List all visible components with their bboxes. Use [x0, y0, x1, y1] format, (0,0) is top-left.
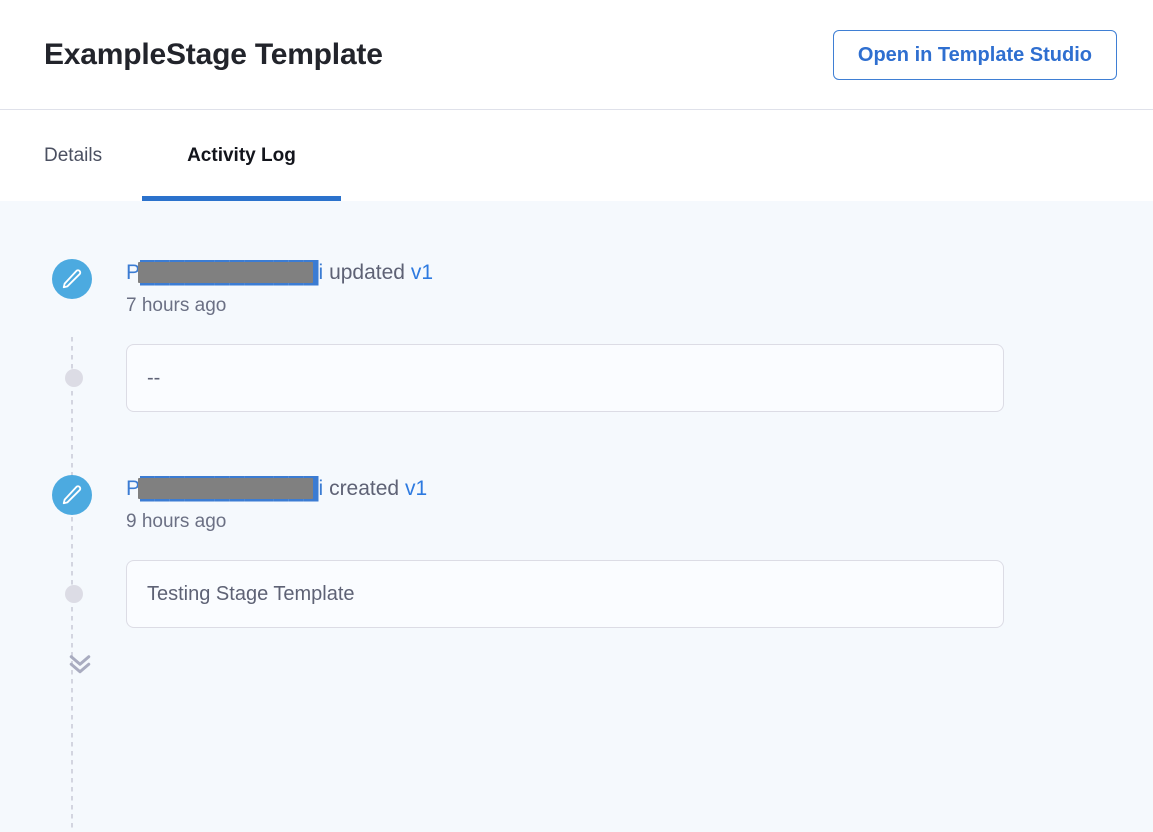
activity-timestamp: 7 hours ago: [126, 293, 433, 319]
activity-note-card: --: [126, 344, 1004, 412]
activity-entry-header: P████████████i created v1 9 hours ago: [52, 475, 1153, 535]
activity-note-text: Testing Stage Template: [147, 581, 355, 607]
redaction-overlay: [138, 262, 313, 283]
tab-bar: Details Activity Log: [0, 110, 1153, 201]
actor-name-link[interactable]: P████████████i: [126, 259, 323, 287]
activity-note-row: Testing Stage Template: [52, 560, 1153, 628]
pencil-icon: [52, 259, 92, 299]
activity-verb-text: updated: [329, 261, 405, 284]
entry-spacer: [52, 412, 1153, 475]
tab-activity-log[interactable]: Activity Log: [142, 110, 341, 201]
redaction-overlay: [138, 478, 313, 499]
activity-entry-text: P████████████i created v1 9 hours ago: [126, 475, 427, 535]
activity-timestamp: 9 hours ago: [126, 509, 427, 535]
activity-log-page: ExampleStage Template Open in Template S…: [0, 0, 1153, 832]
pencil-icon: [52, 475, 92, 515]
activity-note-text: --: [147, 365, 160, 391]
activity-entry-line: P████████████i created v1: [126, 475, 427, 503]
open-in-template-studio-button[interactable]: Open in Template Studio: [833, 30, 1117, 80]
activity-entry-header: P████████████i updated v1 7 hours ago: [52, 259, 1153, 319]
activity-note-card: Testing Stage Template: [126, 560, 1004, 628]
page-header: ExampleStage Template Open in Template S…: [0, 0, 1153, 110]
activity-entry: P████████████i created v1 9 hours ago Te…: [52, 475, 1153, 628]
activity-entry-text: P████████████i updated v1 7 hours ago: [126, 259, 433, 319]
timeline-dot: [65, 369, 83, 387]
page-title: ExampleStage Template: [44, 38, 383, 71]
activity-log-content: P████████████i updated v1 7 hours ago --: [0, 201, 1153, 832]
actor-name-link[interactable]: P████████████i: [126, 475, 323, 503]
activity-entry: P████████████i updated v1 7 hours ago --: [52, 259, 1153, 412]
activity-verb-text: created: [329, 477, 399, 500]
timeline-dot: [65, 585, 83, 603]
version-link[interactable]: v1: [405, 477, 427, 500]
double-chevron-down-icon[interactable]: [52, 648, 92, 678]
activity-note-row: --: [52, 344, 1153, 412]
version-link[interactable]: v1: [411, 261, 433, 284]
activity-entry-line: P████████████i updated v1: [126, 259, 433, 287]
activity-timeline: P████████████i updated v1 7 hours ago --: [0, 259, 1153, 678]
tab-details[interactable]: Details: [44, 110, 142, 201]
